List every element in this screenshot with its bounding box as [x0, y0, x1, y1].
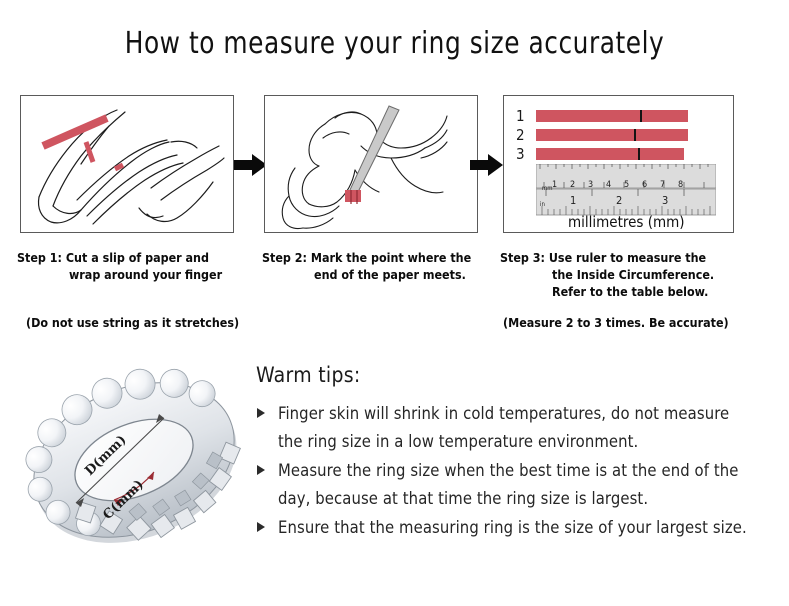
- triangle-bullet-icon: [257, 465, 265, 475]
- strip-bar-1: [536, 110, 688, 122]
- strip-bar-3: [536, 148, 684, 160]
- step-2-line1: Mark the point where the: [307, 250, 471, 265]
- ruler-unit-mark-cm: mm: [542, 184, 553, 193]
- strip-number-3: 3: [516, 145, 530, 163]
- ruler-inch-tick-1: 1: [570, 196, 576, 205]
- warm-tip-item-1: Finger skin will shrink in cold temperat…: [256, 400, 756, 456]
- step-1-note: (Do not use string as it stretches): [26, 315, 239, 330]
- ruler-cm-tick-7: 7: [660, 181, 665, 190]
- warm-tips-heading: Warm tips:: [256, 363, 361, 387]
- arrow-step2-to-step3-icon: [470, 152, 504, 178]
- step-1-caption: Step 1: Cut a slip of paper and wrap aro…: [17, 249, 249, 283]
- strip-mark-3: [638, 148, 640, 160]
- ruler-cm-tick-3: 3: [588, 181, 593, 190]
- step-3-line2-post: .: [710, 267, 714, 282]
- step-3-line1: Use ruler to measure the: [545, 250, 706, 265]
- step-1-line1: Cut a slip of paper and: [62, 250, 209, 265]
- warm-tip-item-2: Measure the ring size when the best time…: [256, 457, 756, 513]
- triangle-bullet-icon: [257, 522, 265, 532]
- warm-tip-text-3: Ensure that the measuring ring is the si…: [278, 518, 747, 537]
- strip-mark-2: [634, 129, 636, 141]
- strip-number-1: 1: [516, 107, 530, 125]
- arrow-step1-to-step2-icon: [234, 152, 268, 178]
- ruler-unit-label: millimetres (mm): [568, 213, 685, 231]
- step-3-illustration-panel: 1 2 3: [503, 95, 734, 233]
- warm-tip-text-1: Finger skin will shrink in cold temperat…: [278, 404, 729, 451]
- triangle-bullet-icon: [257, 408, 265, 418]
- step-2-line2: end of the paper meets.: [262, 266, 494, 283]
- step-1-lead: Step 1:: [17, 250, 62, 265]
- ring-diameter-circumference-diagram: D(mm) C(mm): [18, 352, 250, 568]
- hand-marking-paper-with-pen-icon: [265, 96, 477, 232]
- step-3-line2-pre: the: [552, 267, 577, 282]
- ruler-cm-tick-8: 8: [678, 181, 683, 190]
- step-2-caption: Step 2: Mark the point where the end of …: [262, 249, 494, 283]
- step-3-line2: the Inside Circumference.: [500, 266, 750, 283]
- strip-bar-2: [536, 129, 688, 141]
- ruler-cm-tick-4: 4: [606, 181, 611, 190]
- step-3-note: (Measure 2 to 3 times. Be accurate): [503, 315, 729, 330]
- page-title: How to measure your ring size accurately: [32, 26, 758, 61]
- warm-tips-list: Finger skin will shrink in cold temperat…: [256, 400, 756, 543]
- step-1-illustration-panel: [20, 95, 234, 233]
- step-1-line2: wrap around your finger: [17, 266, 249, 283]
- step-3-caption: Step 3: Use ruler to measure the the Ins…: [500, 249, 750, 300]
- inside-circumference-emphasis: Inside Circumference: [577, 267, 710, 282]
- ruler-unit-mark-inch: in: [540, 200, 545, 209]
- step-3-lead: Step 3:: [500, 250, 545, 265]
- warm-tip-text-2: Measure the ring size when the best time…: [278, 461, 739, 508]
- ruler-inch-tick-2: 2: [616, 196, 622, 205]
- step-2-lead: Step 2:: [262, 250, 307, 265]
- ruler-cm-tick-5: 5: [624, 181, 629, 190]
- strip-number-2: 2: [516, 126, 530, 144]
- step-2-illustration-panel: [264, 95, 478, 233]
- ruler-cm-tick-1: 1: [552, 181, 557, 190]
- ruler-inch-tick-3: 3: [662, 196, 668, 205]
- ruler-cm-tick-2: 2: [570, 181, 575, 190]
- step-3-line3: Refer to the table below.: [500, 283, 750, 300]
- strip-mark-1: [640, 110, 642, 122]
- warm-tip-item-3: Ensure that the measuring ring is the si…: [256, 514, 756, 542]
- ruler-cm-tick-6: 6: [642, 181, 647, 190]
- hand-with-paper-strip-icon: [21, 96, 233, 232]
